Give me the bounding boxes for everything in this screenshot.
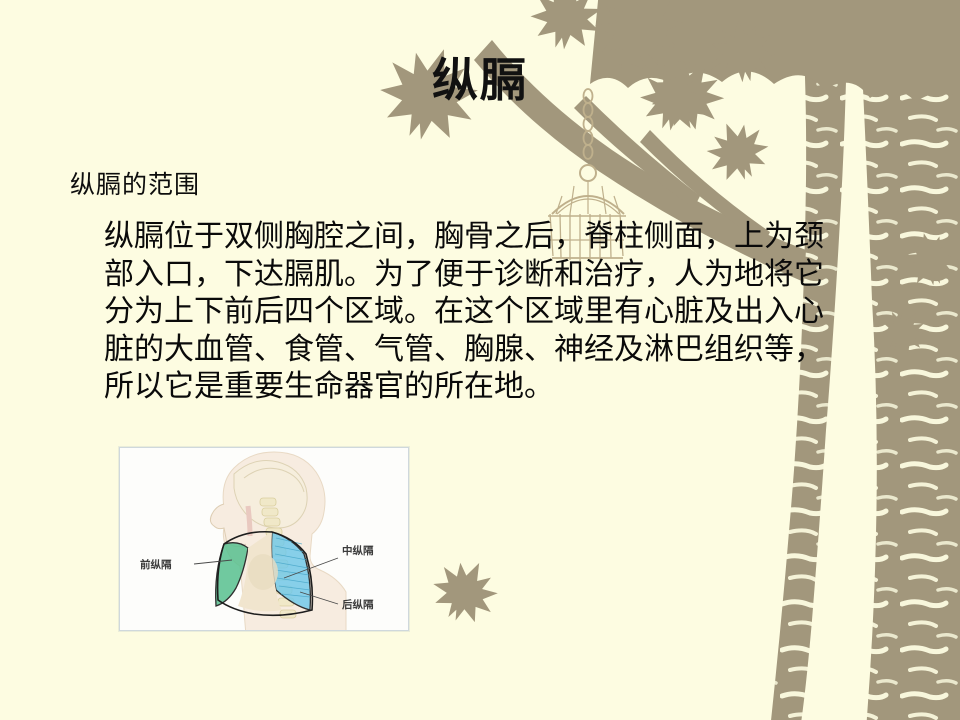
body-line: 纵膈位于双侧胸腔之间，胸骨之后，脊柱侧面，上为颈 — [104, 218, 914, 256]
body-line: 分为上下前后四个区域。在这个区域里有心脏及出入心 — [104, 293, 914, 331]
label-anterior-mediastinum: 前纵隔 — [140, 558, 172, 571]
body-paragraph: 纵膈位于双侧胸腔之间，胸骨之后，脊柱侧面，上为颈 部入口，下达膈肌。为了便于诊断… — [104, 218, 914, 406]
mediastinum-diagram-svg: 前纵隔 中纵隔 后纵隔 — [120, 448, 408, 630]
section-heading: 纵膈的范围 — [70, 168, 200, 202]
trachea-icon — [248, 506, 250, 536]
body-line: 部入口，下达膈肌。为了便于诊断和治疗，人为地将它 — [104, 256, 914, 294]
body-line: 脏的大血管、食管、气管、胸腺、神经及淋巴组织等， — [104, 331, 914, 369]
presentation-slide: 纵膈 纵膈的范围 纵膈位于双侧胸腔之间，胸骨之后，脊柱侧面，上为颈 部入口，下达… — [0, 0, 960, 720]
label-posterior-mediastinum: 后纵隔 — [342, 598, 374, 611]
label-middle-mediastinum: 中纵隔 — [342, 544, 374, 557]
slide-title: 纵膈 — [0, 52, 960, 108]
mediastinum-diagram-image: 前纵隔 中纵隔 后纵隔 — [119, 447, 409, 631]
body-line: 所以它是重要生命器官的所在地。 — [104, 368, 914, 406]
